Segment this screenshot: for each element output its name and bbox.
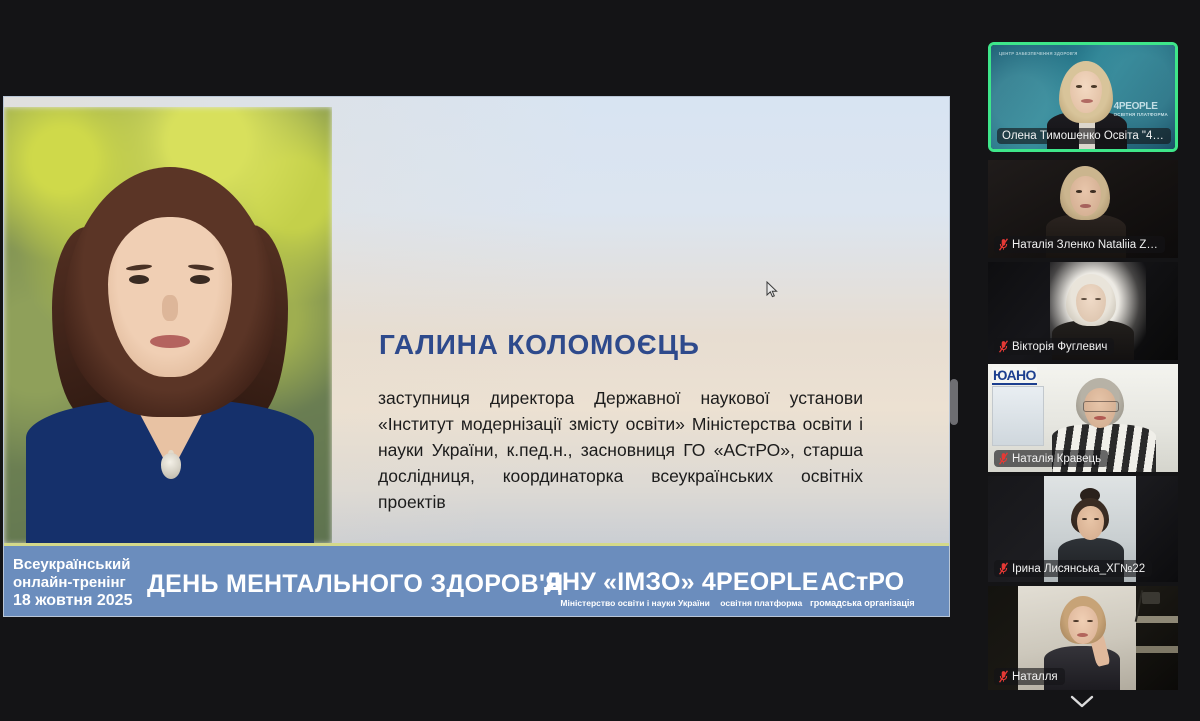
banner-org2-sub: освітня платформа (720, 598, 802, 608)
mic-muted-icon (999, 340, 1008, 353)
participant-filmstrip[interactable]: ЦЕНТР ЗАБЕЗПЕЧЕННЯ ЗДОРОВ'Я 4PEOPLE ОСВІ… (963, 0, 1200, 721)
banner-org3-name: АСтРО (810, 568, 915, 597)
participant-name-label: Ірина Лисянська_ХГ№22 (994, 560, 1152, 577)
participant-glasses (1083, 401, 1119, 412)
participant-tile[interactable]: Ірина Лисянська_ХГ№22 (988, 476, 1178, 582)
banner-org-imzo-subs: Міністерство освіти і науки України осві… (544, 598, 819, 608)
video-watermark-title: 4PEOPLE (1114, 101, 1168, 112)
participant-mouth (1094, 416, 1106, 420)
participant-shelf-lower (1136, 646, 1178, 653)
participant-eye-right (1095, 298, 1101, 300)
banner-event-line1: Всеукраїнський (13, 556, 132, 574)
shared-screen-area[interactable]: ГАЛИНА КОЛОМОЄЦЬ заступниця директора Де… (0, 0, 963, 721)
participant-name-label: Наталія Кравець (994, 450, 1108, 467)
participant-name-text: Наталія Кравець (1012, 453, 1101, 465)
photo-nose (162, 295, 178, 321)
participant-name-label: Наталія Зленко Nataliia Z… (994, 236, 1165, 253)
participant-name-text: Наталія Зленко Nataliia Z… (1012, 239, 1158, 251)
video-overlay-text: ЮАНО (992, 367, 1037, 385)
banner-org1-name: ДНУ «ІМЗО» (544, 568, 695, 596)
video-corner-logo: ЦЕНТР ЗАБЕЗПЕЧЕННЯ ЗДОРОВ'Я (999, 51, 1078, 57)
participant-tile[interactable]: Вікторія Фуглевич (988, 262, 1178, 360)
participant-eye-left (1081, 298, 1087, 300)
participant-eye-left (1082, 518, 1087, 520)
participant-name-label: Олена Тимошенко Освіта "4… (997, 128, 1171, 144)
banner-org2-name: 4PEOPLE (702, 568, 819, 596)
participant-eye-right (1087, 620, 1093, 622)
participant-name-label: Вікторія Фуглевич (994, 338, 1114, 355)
mic-muted-icon (999, 452, 1008, 465)
participant-eye-right (1094, 518, 1099, 520)
photo-eye-right (190, 275, 210, 284)
participant-tile[interactable]: ЮАНО Наталія Кравець (988, 364, 1178, 472)
photo-eye-left (129, 275, 149, 284)
presenter-bio-text: заступниця директора Державної наукової … (378, 385, 863, 515)
banner-org1-sub: Міністерство освіти і науки України (560, 598, 710, 608)
participant-eye-right (1090, 190, 1096, 193)
banner-event-block: Всеукраїнський онлайн-тренінг 18 жовтня … (13, 556, 132, 610)
presentation-slide[interactable]: ГАЛИНА КОЛОМОЄЦЬ заступниця директора Де… (4, 97, 949, 616)
share-view-scrollbar-thumb[interactable] (950, 379, 958, 425)
participant-tile-active-speaker[interactable]: ЦЕНТР ЗАБЕЗПЕЧЕННЯ ЗДОРОВ'Я 4PEOPLE ОСВІ… (988, 42, 1178, 152)
participant-eye-left (1076, 190, 1082, 193)
participant-window-背景 (992, 386, 1044, 446)
participant-tile[interactable]: Наталля (988, 586, 1178, 690)
participant-eye-left (1076, 85, 1082, 88)
mic-muted-icon (999, 562, 1008, 575)
participant-mouth (1077, 633, 1088, 637)
presenter-name: ГАЛИНА КОЛОМОЄЦЬ (379, 329, 700, 361)
presenter-photo (4, 107, 332, 544)
participant-eye-right (1091, 85, 1097, 88)
banner-org-imzo-names: ДНУ «ІМЗО» 4PEOPLE (544, 568, 819, 597)
participant-shelf (1136, 616, 1178, 623)
participant-mouth (1081, 99, 1093, 103)
slide-bottom-banner: Всеукраїнський онлайн-тренінг 18 жовтня … (4, 546, 949, 616)
video-watermark-subtitle: ОСВІТНЯ ПЛАТФОРМА (1114, 112, 1168, 117)
mic-muted-icon (999, 670, 1008, 683)
banner-event-date: 18 жовтня 2025 (13, 592, 132, 610)
share-view-scrollbar[interactable] (948, 97, 960, 616)
participant-tile[interactable]: Наталія Зленко Nataliia Z… (988, 160, 1178, 258)
participant-mouth (1080, 204, 1091, 208)
banner-org3-sub: громадська організація (810, 598, 915, 608)
presenter-bio: заступниця директора Державної наукової … (378, 385, 863, 515)
participant-name-text: Наталля (1012, 671, 1058, 683)
participant-eye-left (1073, 620, 1079, 622)
participant-wall-box (1142, 592, 1160, 604)
banner-event-line2: онлайн-тренінг (13, 574, 132, 592)
banner-org-astro: АСтРО громадська організація (810, 568, 915, 608)
photo-mouth (150, 335, 190, 348)
participant-name-text: Ірина Лисянська_ХГ№22 (1012, 563, 1145, 575)
participant-name-text: Вікторія Фуглевич (1012, 341, 1107, 353)
banner-org-imzo: ДНУ «ІМЗО» 4PEOPLE Міністерство освіти і… (544, 568, 819, 608)
banner-title: ДЕНЬ МЕНТАЛЬНОГО ЗДОРОВ'Я (147, 570, 563, 599)
chevron-down-icon[interactable] (1069, 693, 1095, 709)
participant-name-text: Олена Тимошенко Освіта "4… (1002, 130, 1164, 142)
participant-name-label: Наталля (994, 668, 1065, 685)
mic-muted-icon (999, 238, 1008, 251)
video-watermark: 4PEOPLE ОСВІТНЯ ПЛАТФОРМА (1114, 101, 1168, 117)
